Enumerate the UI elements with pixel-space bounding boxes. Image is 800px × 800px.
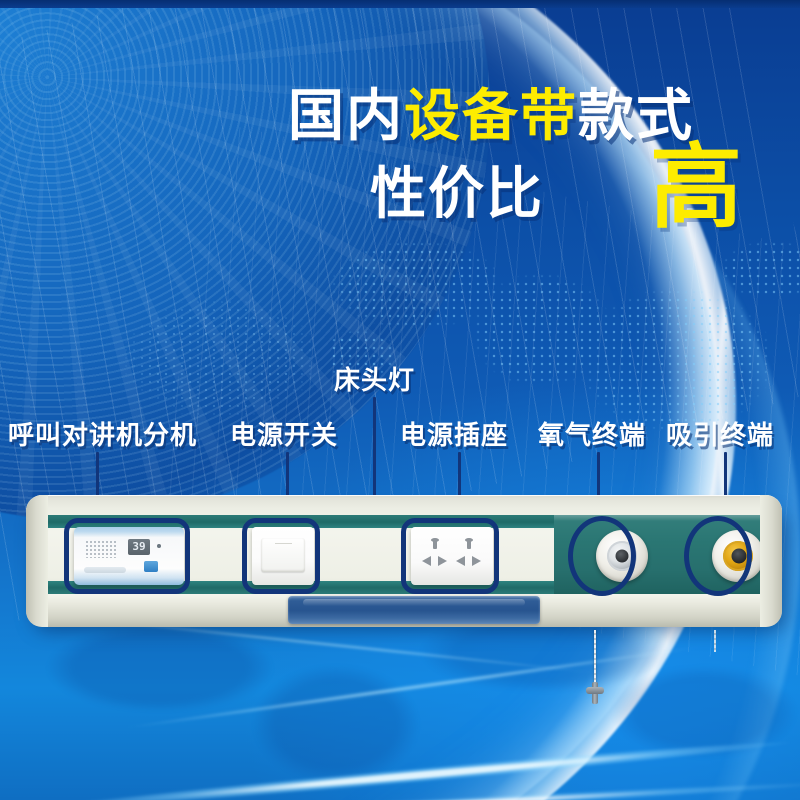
callout-label-bed-lamp: 床头灯: [334, 360, 415, 397]
highlight-circle-suction-terminal: [684, 516, 752, 596]
halftone-dots-left: [90, 250, 350, 430]
callout-label-oxygen-terminal: 氧气终端: [538, 415, 646, 452]
callout-label-suction-terminal: 吸引终端: [666, 415, 774, 452]
product-poster: 国内设备带款式 性价比 高 呼叫对讲机分机 电源开关 床头灯 电源插座 氧气终端…: [0, 0, 800, 800]
highlight-box-power-switch: [242, 518, 320, 594]
highlight-box-power-socket: [401, 518, 499, 594]
pull-cord-secondary[interactable]: [714, 630, 716, 652]
highlight-circle-oxygen-terminal: [568, 516, 636, 596]
headline-text-high: 高: [650, 142, 742, 234]
headline-block: 国内设备带款式 性价比 高: [0, 0, 800, 260]
headline-text-bedhead-unit: 设备带: [404, 84, 578, 147]
callout-label-power-socket: 电源插座: [400, 415, 508, 452]
headline-text-value-ratio: 性价比: [370, 162, 544, 225]
headline-line-1: 国内设备带款式: [288, 88, 694, 144]
headline-text-domestic: 国内: [288, 84, 404, 147]
bed-lamp[interactable]: [288, 596, 540, 624]
highlight-box-intercom: [64, 518, 190, 594]
callout-label-intercom: 呼叫对讲机分机: [8, 415, 197, 452]
panel-end-cap-left: [26, 495, 48, 627]
pull-cord[interactable]: [594, 630, 596, 686]
panel-end-cap-right: [760, 495, 782, 627]
pull-cord-handle[interactable]: [586, 682, 604, 704]
headline-line-2: 性价比: [370, 166, 544, 222]
callout-label-power-switch: 电源开关: [230, 415, 338, 452]
